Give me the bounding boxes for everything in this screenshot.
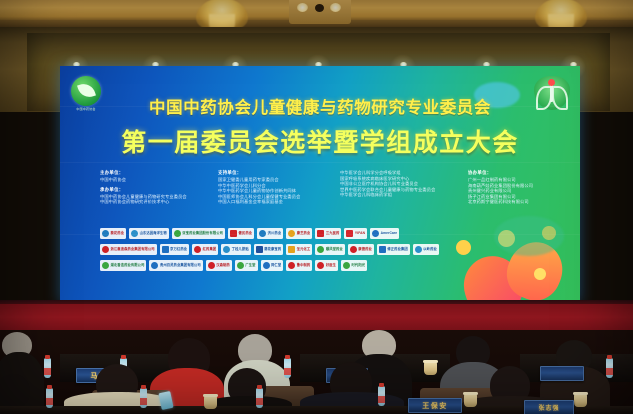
sponsor-logo: 同仁堂 [261,260,284,271]
sponsor-mark-icon [208,262,215,269]
sponsor-mark-icon [317,262,324,269]
sponsor-mark-icon [379,246,386,253]
projector-housing [289,0,351,24]
credits-line: 中国中药协会药物研究评价技术中心 [100,199,208,205]
sponsor-name: 顺风堂药业 [326,247,343,251]
sponsor-mark-icon [317,246,324,253]
water-bottle [256,388,263,408]
sponsor-logo: 三九医药 [315,228,341,239]
sponsor-row: 葵花药业山东达因海洋生物亚宝药业集团股份有限公司健民药业济川药业康芝药业三九医药… [100,226,540,240]
sponsor-logo: 亚宝药业集团股份有限公司 [172,228,225,239]
sponsor-logo: 以岭药业 [413,244,439,255]
sponsor-logo: YIFAN [344,228,367,239]
sponsor-name: 圣元化工 [297,247,311,251]
sponsor-logo: 顺风堂药业 [315,244,344,255]
projector-lamp-icon [297,3,308,12]
sponsor-name: 红药集团 [203,247,217,251]
sponsor-logo: 鲁中制药 [286,260,312,271]
water-bottle [46,388,53,408]
sponsor-mark-icon [346,230,353,237]
nameplate: 王保安 [408,398,462,413]
projector-lens-icon [315,4,324,12]
nameplate: ​ [540,366,584,381]
water-bottle [378,386,385,406]
sponsor-mark-icon [131,230,138,237]
sponsor-name: 汉森制药 [216,263,230,267]
sponsor-logo: 康德药业 [348,244,374,255]
sponsor-logo: 时代阳光 [341,260,367,271]
sponsor-mark-icon [288,246,295,253]
sponsor-name: 浙江惠迪森药业集团有限公司 [111,247,155,251]
led-stage-screen: 中国中药协会 中国中药协会儿童健康与药物研究专业委员会 第一届委员会选举暨学组成… [60,66,580,304]
sponsor-mark-icon [288,230,295,237]
sponsor-mark-icon [237,262,244,269]
sponsor-logo: 红药集团 [192,244,218,255]
sponsor-logo: 京万红药业 [160,244,189,255]
attendee-head [0,374,30,408]
sponsor-logo: 贵州百灵药业集团有限公司 [149,260,202,271]
sponsor-logo: 浙江惠迪森药业集团有限公司 [100,244,157,255]
sponsor-mark-icon [174,230,181,237]
sponsor-mark-icon [102,230,109,237]
sponsor-name: 好医生 [326,263,336,267]
sponsor-row: 湖北香连药业有限公司贵州百灵药业集团有限公司汉森制药广生堂同仁堂鲁中制药好医生时… [100,258,540,272]
sponsor-logo: 修正药业集团 [377,244,410,255]
credits-heading: 协办单位： [468,170,578,176]
water-bottle [606,358,613,378]
sponsor-name: 京万红药业 [170,247,187,251]
water-bottle [44,358,51,378]
credits-line: 北京药斯宁健医药科技有限公司 [468,199,578,205]
credits-column: 协办单位：广州一品红制药有限公司海南葫芦娃药业集团股份有限公司贵州健兴药业有限公… [468,170,578,222]
credits-heading: 承办单位： [100,187,208,193]
sponsor-name: 时代阳光 [352,263,366,267]
sponsor-name: 修正药业集团 [387,247,407,251]
sponsor-name: 葵花康宝药 [264,247,281,251]
sponsor-logo: 好医生 [315,260,338,271]
projector-lamp-icon [330,3,341,12]
water-bottle [140,388,147,408]
credits-line: 中国人口福利基金会幸福家庭基金 [218,199,330,205]
ceramic-mug [574,394,587,407]
credits-column: 支持单位：国家卫健委儿童用药专家委员会中华中医药学会儿科分会中华中医药学会儿童药… [218,170,330,222]
sponsor-name: 鲁中制药 [297,263,311,267]
credits-heading: 支持单位： [218,170,330,176]
sponsor-logo: 葵花药业 [100,228,126,239]
credits-column: 主办单位：中国中药协会承办单位：中国中药协会儿童健康与药物研究专业委员会中国中药… [100,170,208,222]
nameplate-text: 王保安 [422,401,448,411]
sponsor-mark-icon [415,246,422,253]
audience-area: 马融 ​ ​ 王保安 [0,330,633,414]
nameplate-text: 张志强 [538,403,559,412]
sponsor-mark-icon [230,230,237,237]
sponsor-row: 浙江惠迪森药业集团有限公司京万红药业红药集团丁桂儿脐贴葵花康宝药圣元化工顺风堂药… [100,242,540,256]
sponsor-name: 丁桂儿脐贴 [232,247,249,251]
sponsor-logo: 葵花康宝药 [254,244,283,255]
sponsor-name: 湖北香连药业有限公司 [111,263,145,267]
sponsor-name: 广生堂 [245,263,255,267]
sponsor-mark-icon [162,246,169,253]
sponsor-logo: 康芝药业 [286,228,312,239]
sponsor-mark-icon [263,262,270,269]
sponsor-mark-icon [317,230,324,237]
credits-column: 中华医学会儿科学分会呼吸学组国家呼吸系统疾病临床医学研究中心中国非公立医疗机构协… [340,170,458,222]
sponsor-name: 同仁堂 [271,263,281,267]
event-title-secondary: 第一届委员会选举暨学组成立大会 [60,123,580,159]
sponsor-mark-icon [372,230,379,237]
credits-heading: 主办单位： [100,170,208,176]
ceramic-mug [424,362,437,375]
conference-hall-photo: 中国中药协会 中国中药协会儿童健康与药物研究专业委员会 第一届委员会选举暨学组成… [0,0,633,414]
sponsor-mark-icon [343,262,350,269]
sponsor-logo: AmerCare [370,228,399,239]
sponsor-logo: 圣元化工 [286,244,312,255]
sponsor-logo: 湖北香连药业有限公司 [100,260,146,271]
sponsor-logo: 山东达因海洋生物 [129,228,169,239]
water-bottle [284,358,291,378]
sponsor-logo: 济川药业 [257,228,283,239]
sponsor-mark-icon [194,246,201,253]
sponsor-mark-icon [151,262,158,269]
sponsor-mark-icon [102,262,109,269]
sponsor-mark-icon [350,246,357,253]
sponsor-name: 以岭药业 [423,247,437,251]
sponsor-logo: 丁桂儿脐贴 [221,244,250,255]
ceramic-mug [204,396,217,409]
credits-block: 主办单位：中国中药协会承办单位：中国中药协会儿童健康与药物研究专业委员会中国中药… [100,170,555,222]
sponsor-name: 康德药业 [358,247,372,251]
sponsor-mark-icon [102,246,109,253]
sponsor-logo: 汉森制药 [206,260,232,271]
sponsor-logo: 广生堂 [235,260,258,271]
sponsor-mark-icon [223,246,230,253]
sponsor-name: 贵州百灵药业集团有限公司 [160,263,201,267]
sponsor-mark-icon [288,262,295,269]
sponsor-mark-icon [256,246,263,253]
nameplate: 张志强 [524,400,574,414]
sponsor-mark-icon [259,230,266,237]
credits-line: 中华医学会儿科临床药学组 [340,192,458,198]
sponsor-logo: 健民药业 [228,228,254,239]
ceramic-mug [464,394,477,407]
